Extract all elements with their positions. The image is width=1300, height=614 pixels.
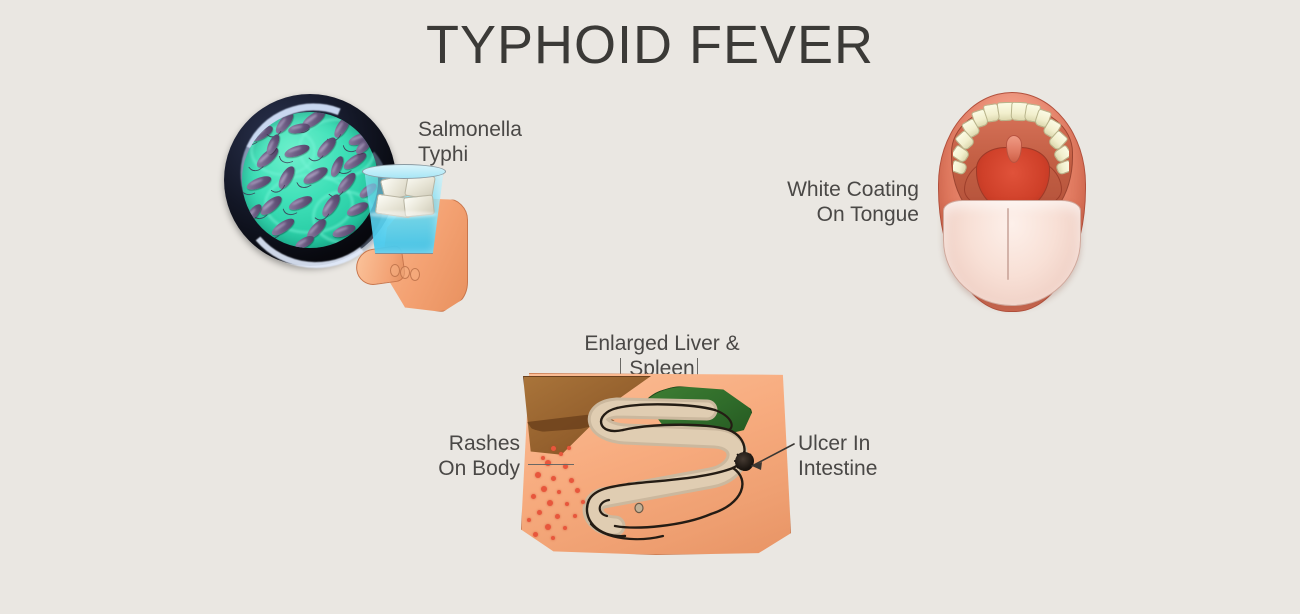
label-salmonella-typhi: Salmonella Typhi: [418, 118, 522, 167]
knuckle: [400, 266, 410, 279]
rash-dot: [565, 502, 569, 506]
glass-rim: [362, 164, 446, 179]
infographic-canvas: TYPHOID FEVER: [0, 0, 1300, 614]
rash-dot: [567, 446, 571, 450]
page-title: TYPHOID FEVER: [0, 14, 1300, 76]
rash-dot: [555, 514, 560, 519]
bacterium: [293, 233, 316, 248]
rash-dot: [527, 518, 531, 522]
tooth: [1055, 159, 1069, 175]
rash-dot: [537, 510, 542, 515]
hand-holding-glass-illustration: [352, 164, 482, 314]
rash-dot: [581, 500, 585, 504]
rash-dot: [545, 524, 551, 530]
tooth: [953, 159, 968, 175]
label-rashes-on-body: Rashes On Body: [400, 432, 520, 481]
rash-dot: [569, 478, 574, 483]
label-ulcer-in-intestine: Ulcer In Intestine: [798, 432, 938, 481]
rash-dot: [551, 476, 556, 481]
rash-dot: [563, 526, 567, 530]
label-white-coating-on-tongue: White Coating On Tongue: [759, 178, 919, 227]
rash-dot: [535, 472, 541, 478]
rash-dot: [547, 500, 553, 506]
water-surface: [369, 211, 437, 218]
rash-dot: [551, 536, 555, 540]
rash-dot: [557, 490, 561, 494]
tongue-midline: [1007, 208, 1009, 280]
knuckle: [390, 264, 400, 277]
small-intestine: [497, 368, 817, 593]
rash-dot: [551, 446, 556, 451]
open-mouth-illustration: [938, 92, 1084, 310]
rash-dot: [541, 456, 545, 460]
rash-dot: [573, 514, 577, 518]
leader-arrow-ulcer: [736, 440, 798, 480]
abdomen-cross-section-illustration: [497, 368, 817, 593]
rash-dot: [575, 488, 580, 493]
coated-tongue: [943, 200, 1081, 306]
rash-dot: [531, 494, 536, 499]
knuckle: [410, 268, 420, 281]
leader-line-rashes: [528, 464, 574, 465]
upper-teeth-arch: [953, 102, 1069, 194]
rash-dot: [533, 532, 538, 537]
rash-dot: [559, 452, 563, 456]
rash-dot: [541, 486, 547, 492]
